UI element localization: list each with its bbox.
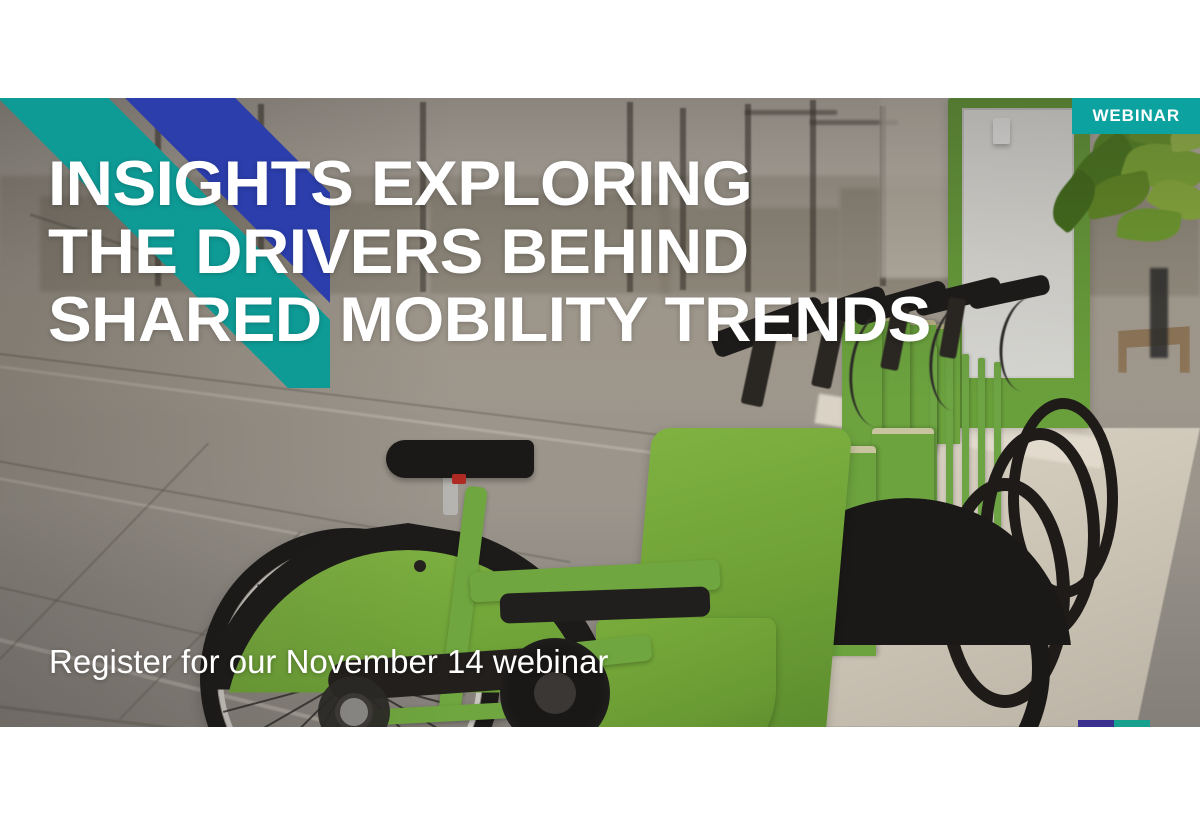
webinar-promo-banner: WEBINAR INSIGHTS EXPLORING THE DRIVERS B… xyxy=(0,98,1200,727)
crank-hub xyxy=(335,693,373,727)
ipsos-logo: Ipsos xyxy=(1078,720,1150,727)
lower-frame-panel xyxy=(596,618,776,727)
fender-bolt xyxy=(414,560,426,572)
headline-line-3: SHARED MOBILITY TRENDS xyxy=(48,286,931,354)
webinar-badge: WEBINAR xyxy=(1072,98,1200,134)
headline-line-1: INSIGHTS EXPLORING xyxy=(48,150,931,218)
page-title: INSIGHTS EXPLORING THE DRIVERS BEHIND SH… xyxy=(48,150,897,354)
bike-saddle xyxy=(386,440,534,478)
page-root: WEBINAR INSIGHTS EXPLORING THE DRIVERS B… xyxy=(0,0,1200,828)
register-cta-text[interactable]: Register for our November 14 webinar xyxy=(49,643,608,681)
tail-light xyxy=(452,474,466,484)
webinar-badge-label: WEBINAR xyxy=(1092,106,1180,126)
headline-line-2: THE DRIVERS BEHIND xyxy=(48,218,931,286)
